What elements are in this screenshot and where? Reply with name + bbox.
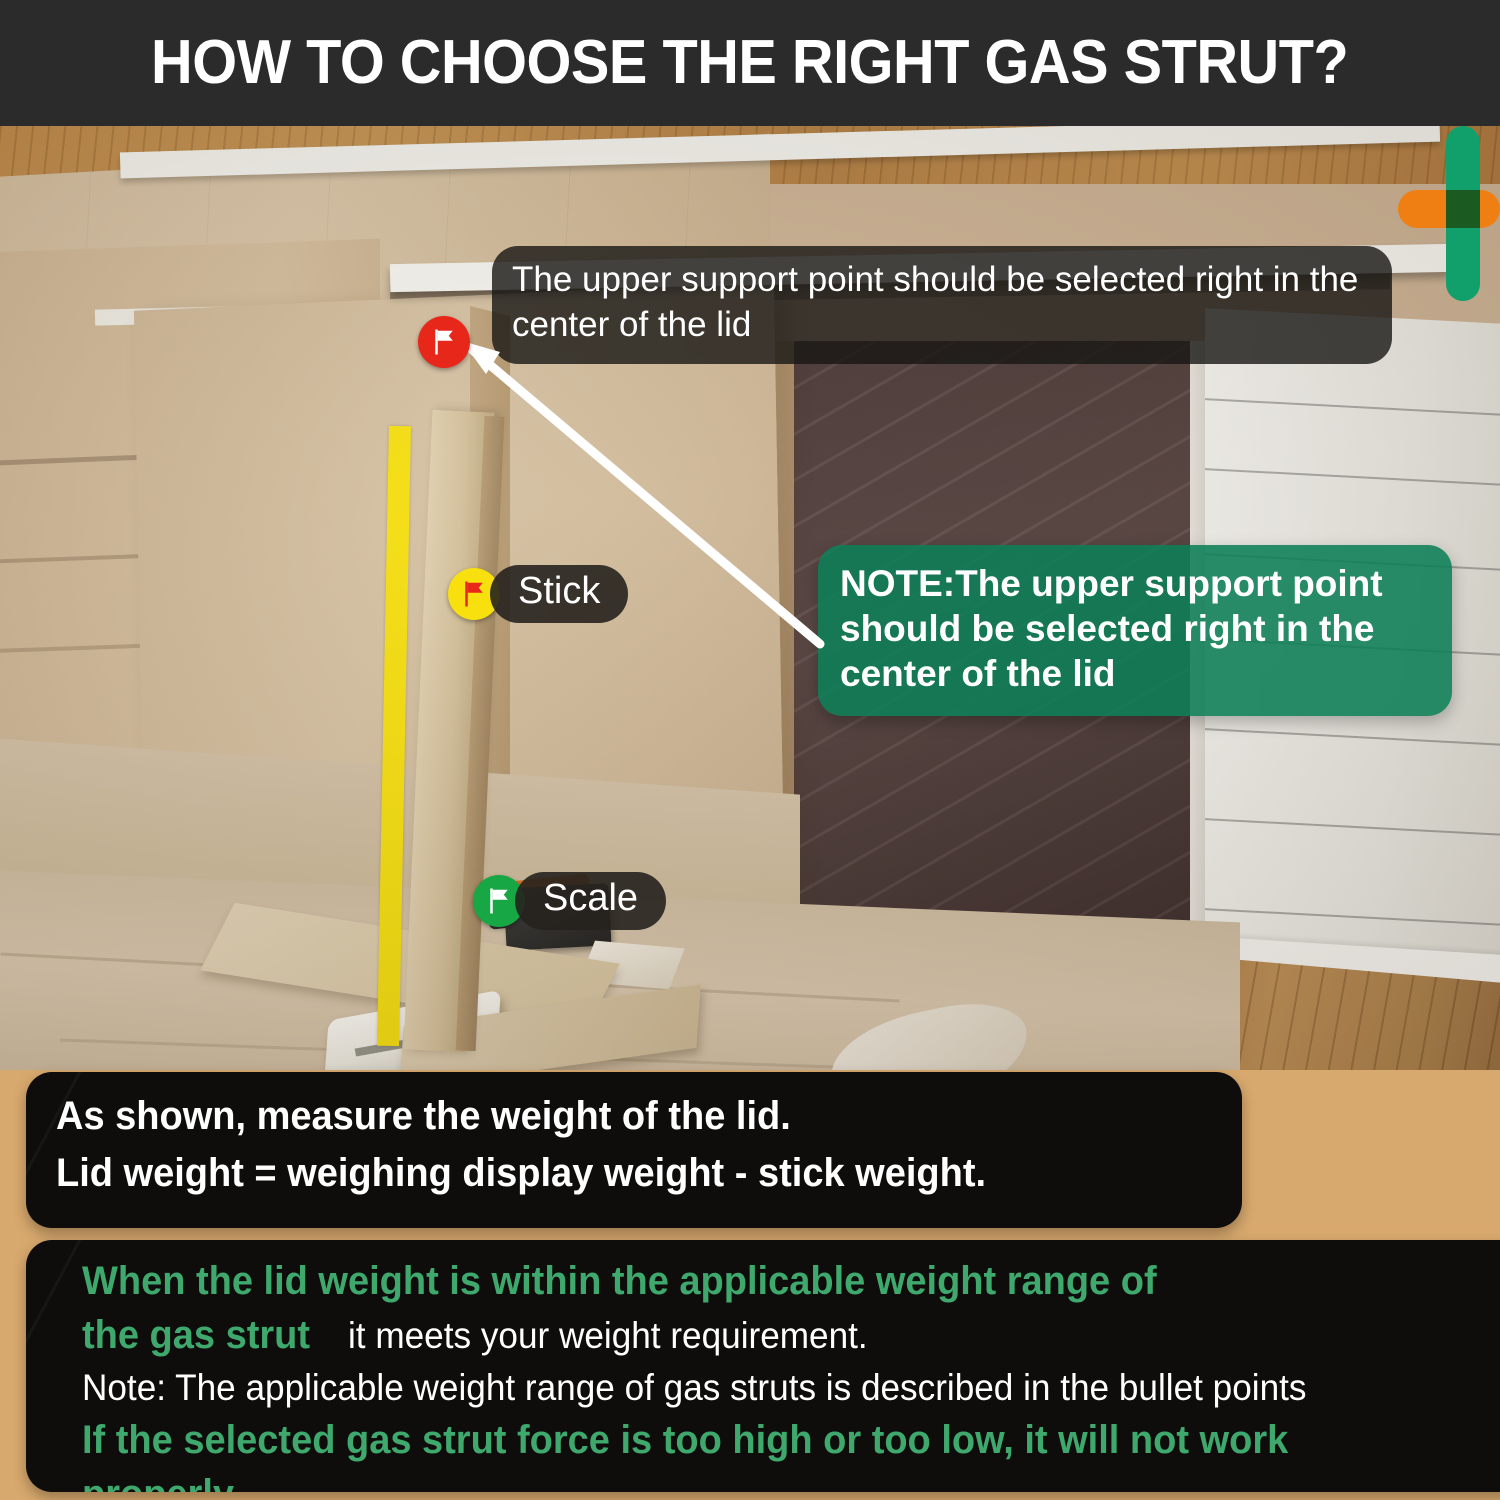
- range-line-1: When the lid weight is within the applic…: [82, 1254, 1458, 1308]
- marker-label-scale: Scale: [515, 872, 666, 930]
- page-header: HOW TO CHOOSE THE RIGHT GAS STRUT?: [0, 0, 1500, 126]
- range-line-3: Note: The applicable weight range of gas…: [82, 1363, 1458, 1413]
- marker-label-stick: Stick: [490, 565, 628, 623]
- note-green-box: NOTE:The upper support point should be s…: [818, 545, 1452, 716]
- flag-icon: [418, 316, 470, 368]
- callout-upper-support-point: The upper support point should be select…: [492, 246, 1392, 364]
- marker-scale[interactable]: Scale: [473, 872, 666, 930]
- weight-range-card: When the lid weight is within the applic…: [26, 1240, 1500, 1492]
- infographic-page: HOW TO CHOOSE THE RIGHT GAS STRUT?: [0, 0, 1500, 1500]
- range-line-2-green: the gas strut: [82, 1308, 310, 1362]
- marker-stick[interactable]: Stick: [448, 565, 628, 623]
- measure-line-1: As shown, measure the weight of the lid.: [56, 1088, 1183, 1145]
- page-title: HOW TO CHOOSE THE RIGHT GAS STRUT?: [151, 32, 1348, 94]
- range-line-2-row: the gas strut it meets your weight requi…: [82, 1308, 1500, 1362]
- measure-instructions-card: As shown, measure the weight of the lid.…: [26, 1072, 1242, 1228]
- measure-line-2: Lid weight = weighing display weight - s…: [56, 1145, 1183, 1202]
- range-line-2-white: it meets your weight requirement.: [348, 1311, 868, 1361]
- plus-overlap: [1446, 190, 1480, 228]
- range-line-4: If the selected gas strut force is too h…: [82, 1413, 1458, 1492]
- marker-upper-support-point[interactable]: [418, 316, 470, 368]
